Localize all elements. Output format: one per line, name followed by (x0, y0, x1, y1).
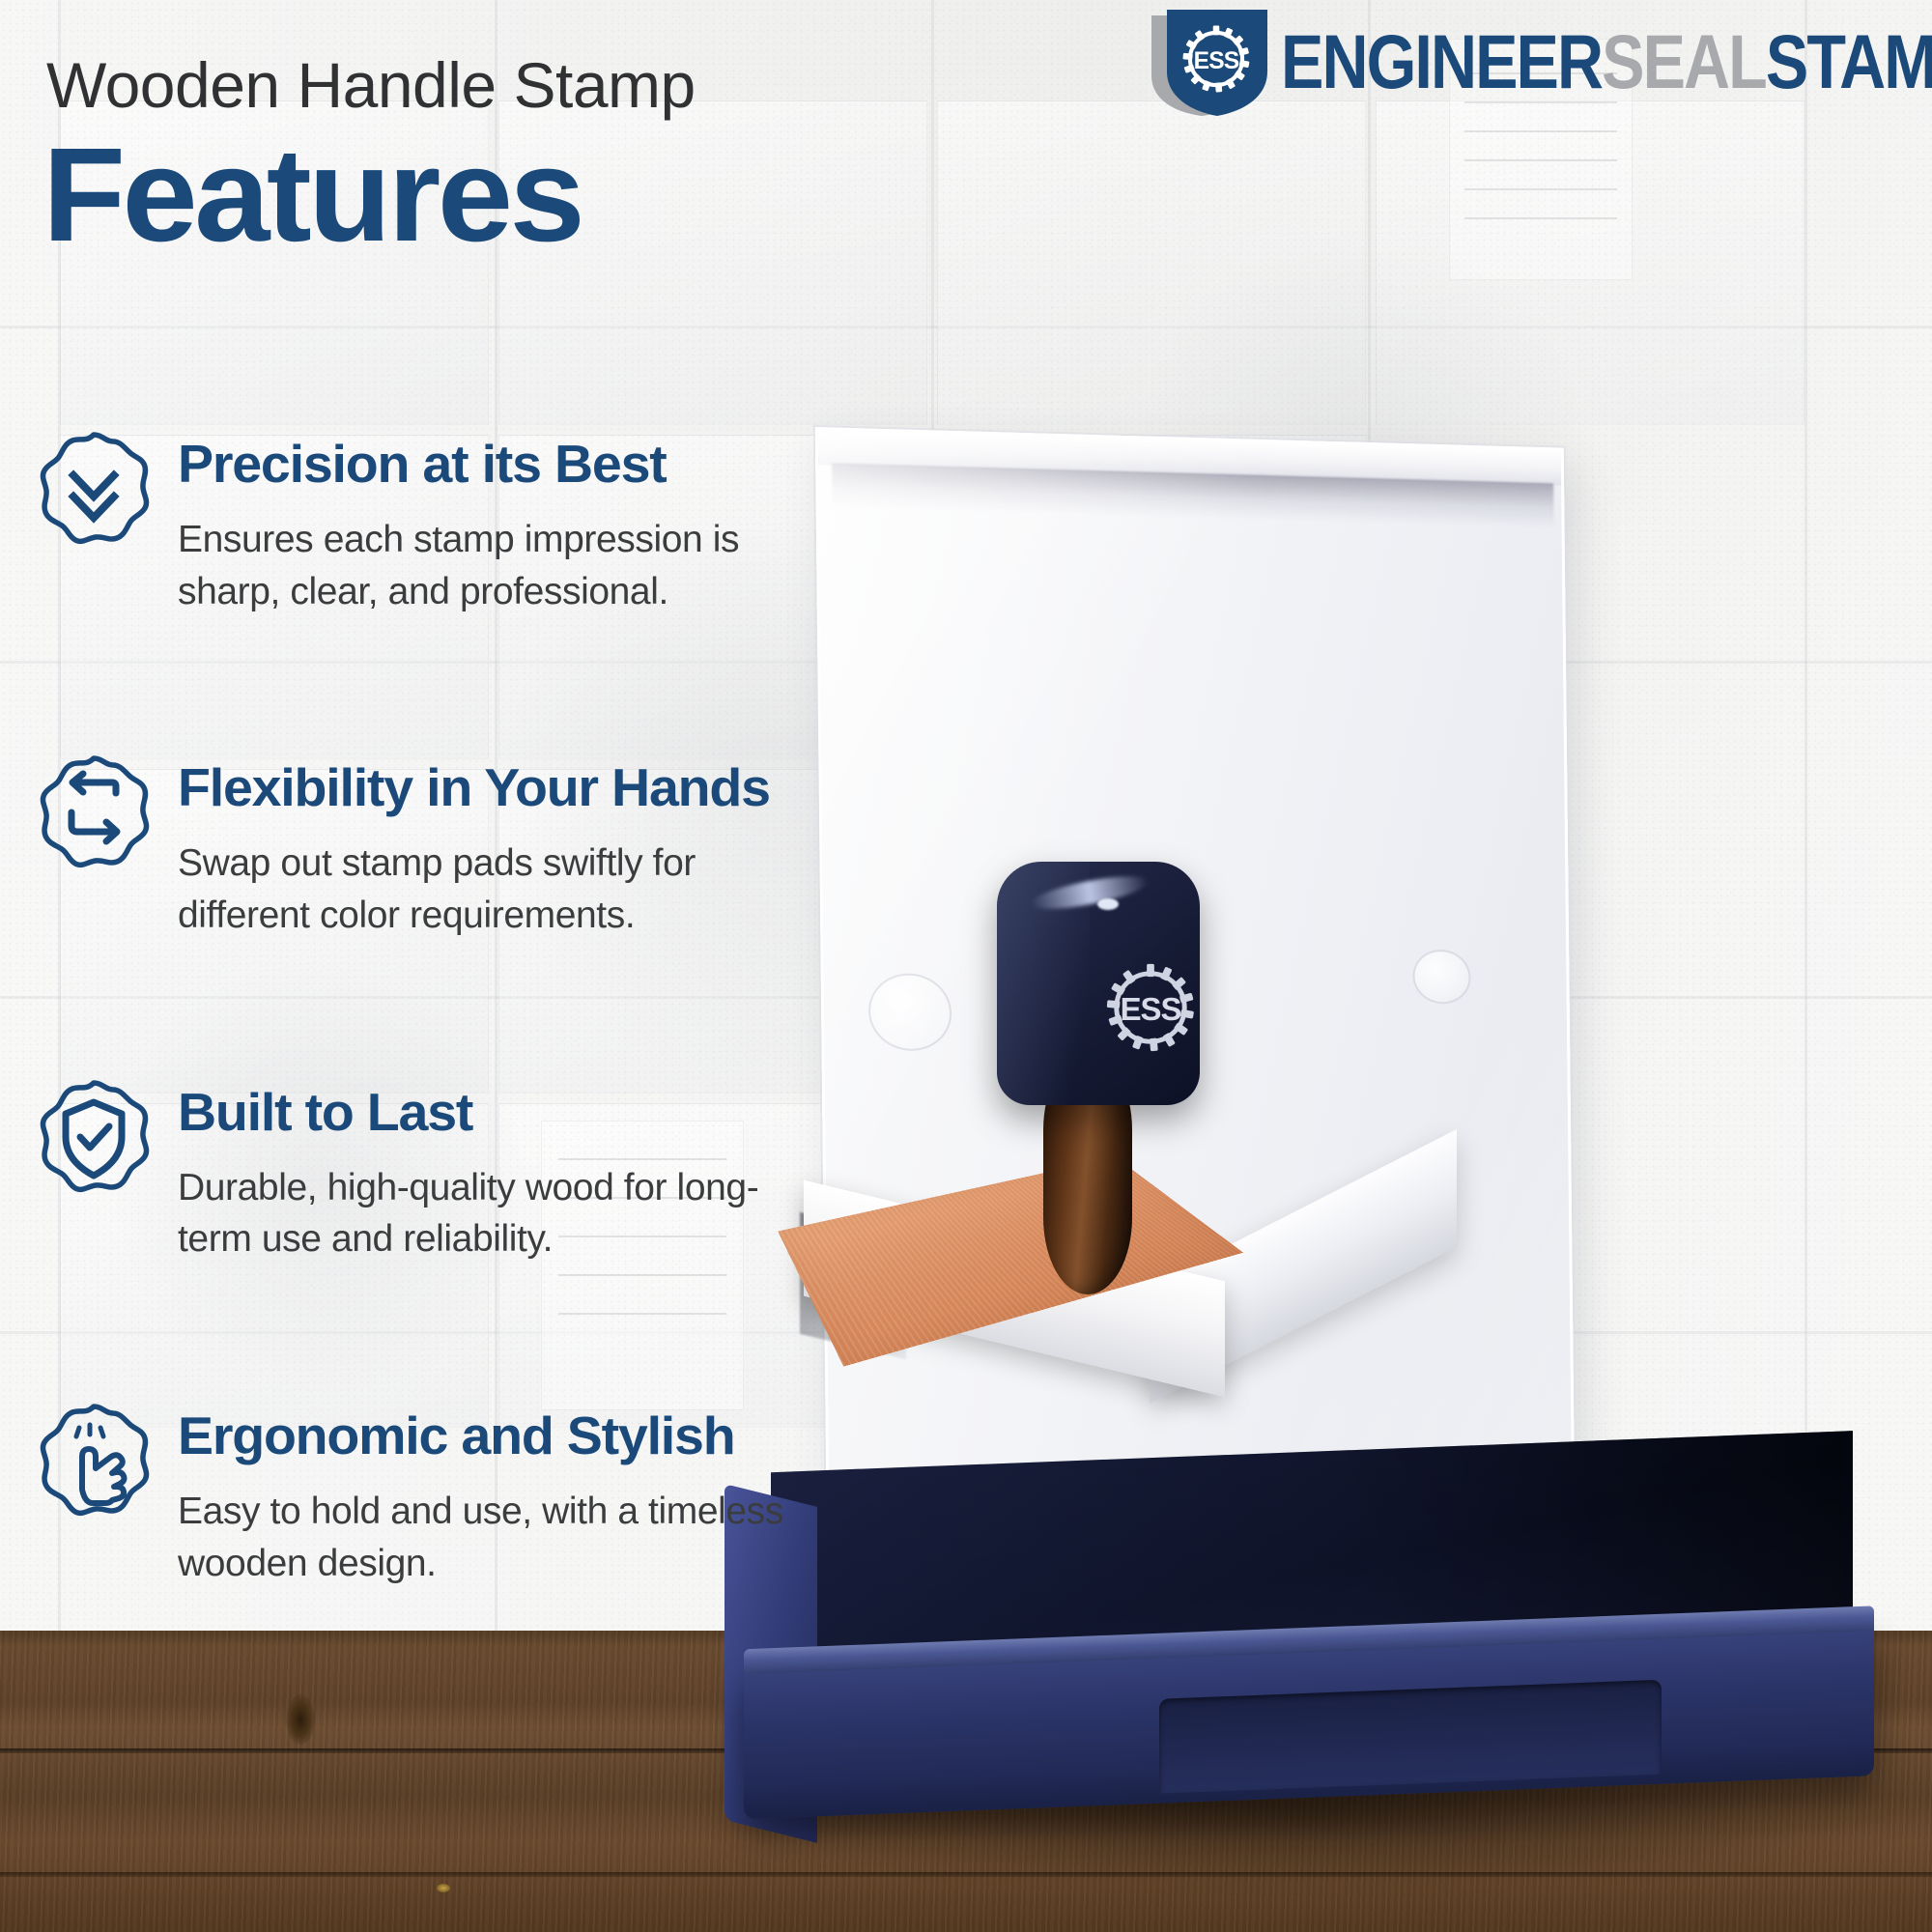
svg-text:ESS: ESS (1121, 991, 1181, 1027)
gear-icon: ESS (1177, 19, 1256, 103)
logo-shield-badge: ESS (1151, 8, 1275, 116)
feature-description: Swap out stamp pads swiftly for differen… (178, 838, 825, 942)
page-kicker: Wooden Handle Stamp (46, 48, 696, 122)
logo-wordmark: ENGINEER SEAL STAMPS (1281, 18, 1932, 105)
feature-description: Durable, high-quality wood for long-term… (178, 1162, 825, 1266)
feature-item: Ergonomic and Stylish Easy to hold and u… (35, 1408, 914, 1589)
feature-title: Ergonomic and Stylish (178, 1408, 922, 1464)
tap-hand-badge-icon (35, 1401, 153, 1528)
feature-title: Built to Last (178, 1085, 922, 1141)
page-title: Features (43, 128, 582, 262)
brand-logo[interactable]: ESS ENGINEER SEAL STAMPS .COM (1151, 8, 1932, 116)
feature-title: Precision at its Best (178, 437, 922, 493)
gear-icon: ESS (1097, 954, 1204, 1065)
logo-word-engineer: ENGINEER (1281, 18, 1602, 105)
feature-description: Ensures each stamp impression is sharp, … (178, 514, 825, 618)
stamp-handle-knob: ESS (997, 862, 1200, 1105)
feature-item: Built to Last Durable, high-quality wood… (35, 1085, 914, 1265)
feature-description: Easy to hold and use, with a timeless wo… (178, 1486, 825, 1590)
swap-arrows-badge-icon (35, 753, 153, 880)
feature-list: Precision at its Best Ensures each stamp… (35, 437, 914, 1590)
svg-text:ESS: ESS (1194, 48, 1239, 74)
feature-item: Precision at its Best Ensures each stamp… (35, 437, 914, 617)
wood-nail (437, 1884, 450, 1892)
feature-item: Flexibility in Your Hands Swap out stamp… (35, 760, 914, 941)
infographic-canvas: Wooden Handle Stamp Features (0, 0, 1932, 1932)
knob-specular-highlight (1097, 898, 1119, 910)
feature-title: Flexibility in Your Hands (178, 760, 922, 816)
wood-knot (286, 1694, 315, 1745)
product-photo: ESS (908, 483, 1932, 1932)
double-chevron-down-badge-icon (35, 429, 153, 556)
logo-word-seal: SEAL (1602, 18, 1766, 105)
shield-check-badge-icon (35, 1077, 153, 1205)
logo-word-stamps: STAMPS (1766, 18, 1932, 105)
